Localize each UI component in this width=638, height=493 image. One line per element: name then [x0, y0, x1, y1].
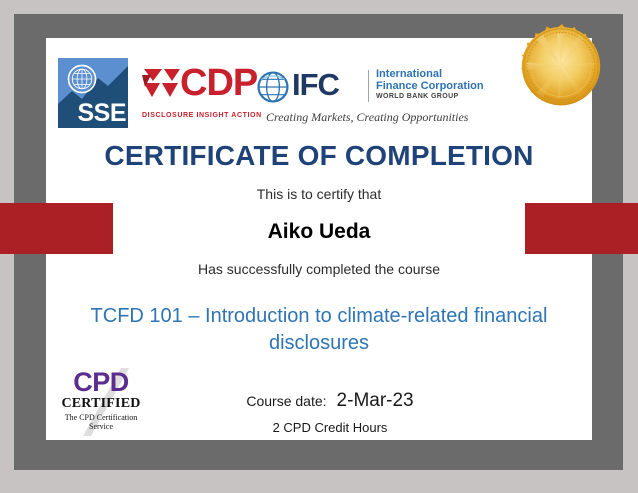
ifc-world-bank-group: WORLD BANK GROUP: [376, 93, 459, 100]
course-date-row: Course date:2-Mar-23: [180, 390, 480, 412]
cdp-logo-text: CDP: [180, 61, 257, 107]
ifc-subtitle-line2: Finance Corporation: [376, 80, 484, 92]
credit-hours: 2 CPD Credit Hours: [180, 420, 480, 435]
recipient-name: Aiko Ueda: [46, 220, 592, 244]
globe-icon: [256, 70, 290, 104]
cpd-service-line2: Service: [55, 422, 147, 431]
cpd-certified-logo: CPD CERTIFIED The CPD Certification Serv…: [55, 368, 147, 436]
ifc-logo: IFC International Finance Corporation WO…: [256, 66, 486, 126]
course-date-value: 2-Mar-23: [337, 390, 414, 411]
ifc-divider: [368, 70, 369, 102]
completed-line: Has successfully completed the course: [46, 261, 592, 277]
ifc-logo-text: IFC: [292, 66, 339, 105]
cdp-mark-icon: [142, 67, 182, 103]
certify-line: This is to certify that: [46, 186, 592, 202]
un-emblem-icon: [67, 64, 97, 94]
ifc-tagline: Creating Markets, Creating Opportunities: [266, 110, 468, 125]
sse-logo: SSE: [58, 58, 128, 128]
cdp-tagline: DISCLOSURE INSIGHT ACTION: [142, 112, 262, 119]
logo-row: SSE CDP DISCLOSURE INSIGHT ACTION: [58, 56, 458, 128]
cpd-logo-text: CPD: [55, 368, 147, 396]
course-date-label: Course date:: [246, 393, 326, 409]
cpd-certified-text: CERTIFIED: [55, 396, 147, 412]
course-title: TCFD 101 – Introduction to climate-relat…: [70, 303, 568, 357]
cpd-service-line1: The CPD Certification: [55, 413, 147, 422]
page-title: CERTIFICATE OF COMPLETION: [46, 140, 592, 172]
sse-logo-text: SSE: [58, 101, 126, 126]
cpd-service-text: The CPD Certification Service: [55, 413, 147, 431]
gold-award-seal-icon: [513, 23, 611, 121]
ifc-subtitle-line1: International: [376, 68, 484, 80]
ifc-subtitle: International Finance Corporation: [376, 68, 484, 92]
certificate-page: SSE CDP DISCLOSURE INSIGHT ACTION: [0, 0, 638, 493]
